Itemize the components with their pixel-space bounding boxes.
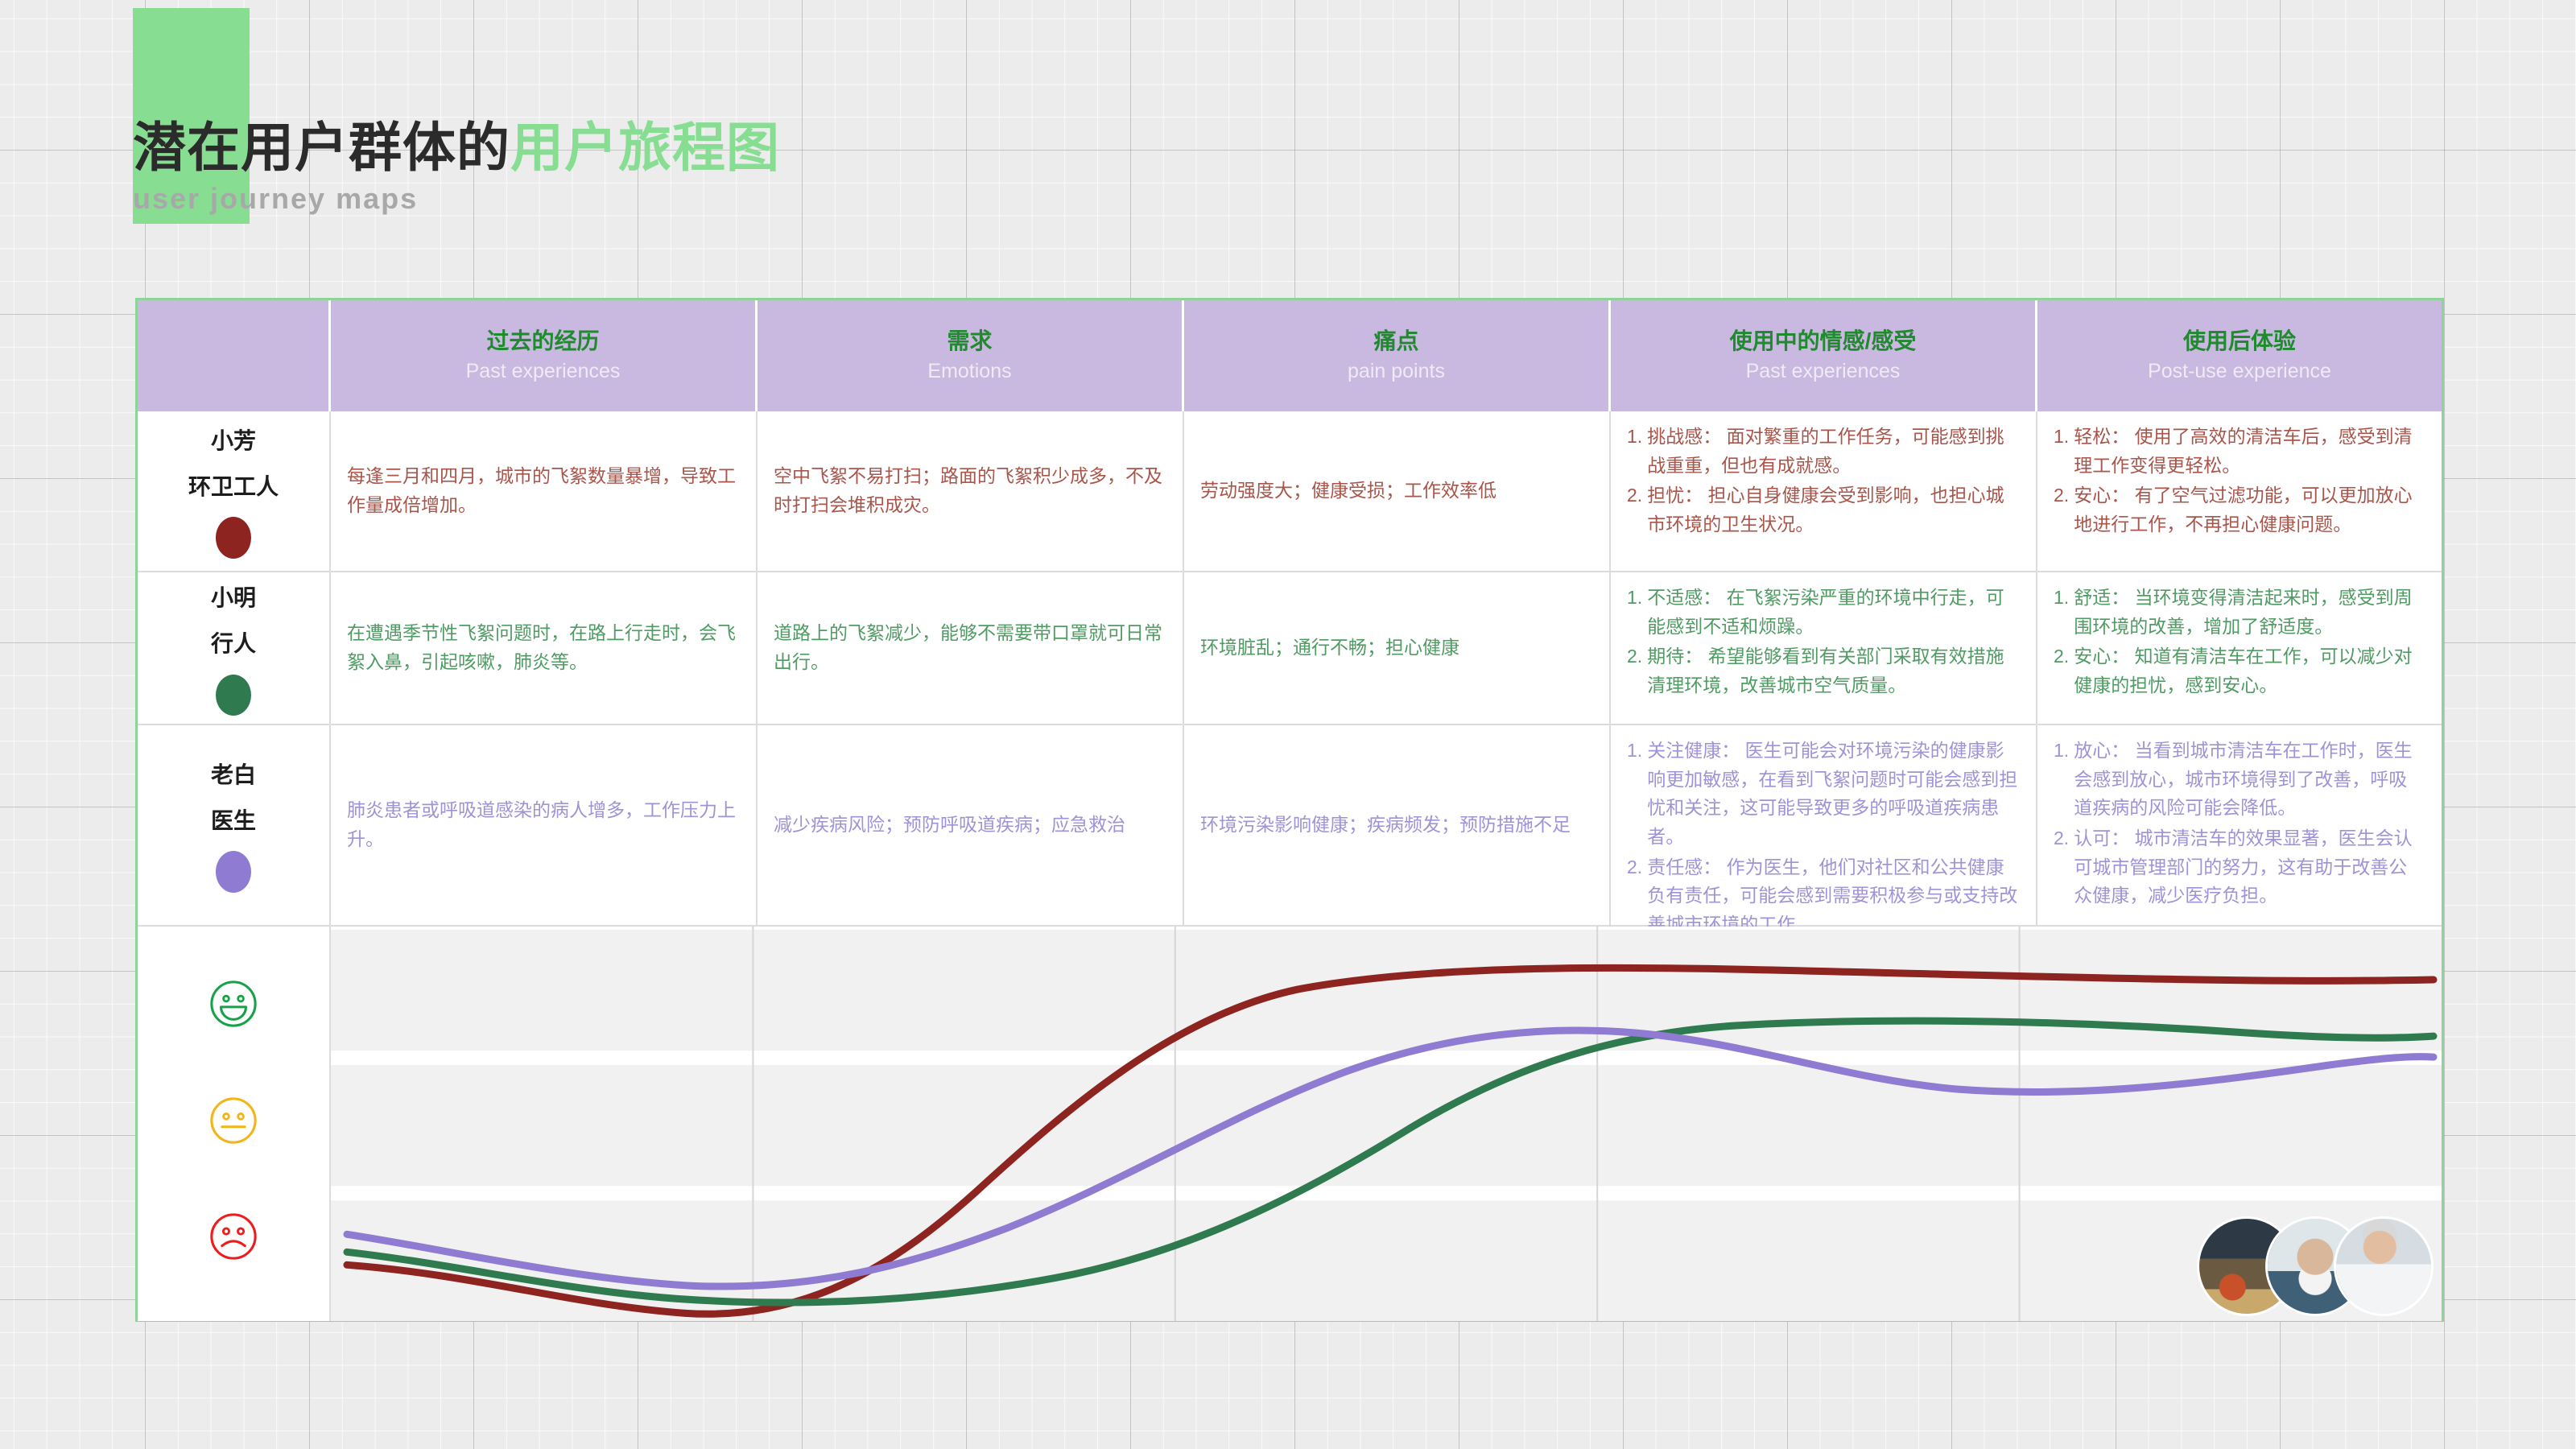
list-item-text: 担忧： 担心自身健康会受到影响，也担心城市环境的卫生状况。 [1647, 481, 2020, 539]
list-item: 1.挑战感： 面对繁重的工作任务，可能感到挑战重重，但也有成就感。 [1627, 423, 2020, 480]
list-item-number: 1. [1627, 737, 1642, 852]
ordered-list: 1.舒适： 当环境变得清洁起来时，感受到周围环境的改善，增加了舒适度。 2.安心… [2054, 584, 2425, 702]
cell-during: 1.不适感： 在飞絮污染严重的环境中行走，可能感到不适和烦躁。 2.期待： 希望… [1611, 572, 2037, 724]
list-item: 2.安心： 知道有清洁车在工作，可以减少对健康的担忧，感到安心。 [2054, 642, 2425, 700]
header-zh-label: 需求 [947, 329, 992, 354]
header-en-label: Past experiences [1746, 361, 1901, 383]
persona-cell: 老白 医生 [138, 725, 331, 925]
cell-during: 1.关注健康： 医生可能会对环境污染的健康影响更加敏感，在看到飞絮问题时可能会感… [1611, 725, 2037, 925]
header-zh-label: 使用后体验 [2183, 329, 2296, 354]
cell-needs: 减少疾病风险；预防呼吸道疾病；应急救治 [758, 725, 1184, 925]
table-row: 小明 行人 在遭遇季节性飞絮问题时，在路上行走时，会飞絮入鼻，引起咳嗽，肺炎等。… [138, 572, 2442, 725]
list-item-text: 安心： 有了空气过滤功能，可以更加放心地进行工作，不再担心健康问题。 [2074, 481, 2425, 539]
list-item-text: 不适感： 在飞絮污染严重的环境中行走，可能感到不适和烦躁。 [1647, 584, 2020, 641]
title-block: 潜在用户群体的用户旅程图 user journey maps [133, 8, 780, 95]
sad-face-icon [208, 1212, 258, 1265]
neutral-face-icon [208, 1096, 258, 1150]
persona-color-dot [216, 851, 251, 893]
header-zh-label: 使用中的情感/感受 [1730, 329, 1917, 354]
persona-name: 小芳 [211, 423, 256, 458]
list-item-number: 2. [2054, 642, 2069, 700]
list-item-number: 1. [1627, 423, 1642, 480]
persona-role: 行人 [211, 626, 256, 661]
happy-face-icon [208, 979, 258, 1033]
ordered-list: 1.放心： 当看到城市清洁车在工作时，医生会感到放心，城市环境得到了改善，呼吸道… [2054, 737, 2425, 912]
journey-map-board: 过去的经历 Past experiences 需求 Emotions 痛点 pa… [135, 298, 2444, 1322]
list-item: 2.担忧： 担心自身健康会受到影响，也担心城市环境的卫生状况。 [1627, 481, 2020, 539]
band-happy [331, 930, 2442, 1051]
persona-name: 老白 [211, 758, 256, 792]
list-item: 2.安心： 有了空气过滤功能，可以更加放心地进行工作，不再担心健康问题。 [2054, 481, 2425, 539]
cell-after: 1.舒适： 当环境变得清洁起来时，感受到周围环境的改善，增加了舒适度。 2.安心… [2037, 572, 2442, 724]
emotion-curve-chart [138, 927, 2442, 1321]
cell-past: 在遭遇季节性飞絮问题时，在路上行走时，会飞絮入鼻，引起咳嗽，肺炎等。 [331, 572, 758, 724]
list-item-number: 1. [1627, 584, 1642, 641]
emotion-plot-svg [331, 927, 2442, 1321]
header-zh-label: 过去的经历 [486, 329, 599, 354]
persona-cell: 小明 行人 [138, 572, 331, 724]
cell-past: 每逢三月和四月，城市的飞絮数量暴增，导致工作量成倍增加。 [331, 411, 758, 571]
list-item: 1.关注健康： 医生可能会对环境污染的健康影响更加敏感，在看到飞絮问题时可能会感… [1627, 737, 2020, 852]
header-en-label: Post-use experience [2148, 361, 2331, 383]
list-item-number: 1. [2054, 423, 2069, 480]
header-cell-past-experiences: 过去的经历 Past experiences [331, 300, 758, 411]
page-title: 潜在用户群体的用户旅程图 [133, 121, 780, 174]
list-item-number: 2. [1627, 481, 1642, 539]
list-item-number: 1. [2054, 584, 2069, 641]
persona-color-dot [216, 517, 251, 559]
list-item-text: 关注健康： 医生可能会对环境污染的健康影响更加敏感，在看到飞絮问题时可能会感到担… [1647, 737, 2020, 852]
cell-needs: 道路上的飞絮减少，能够不需要带口罩就可日常出行。 [758, 572, 1184, 724]
ordered-list: 1.轻松： 使用了高效的清洁车后，感受到清理工作变得更轻松。 2.安心： 有了空… [2054, 423, 2425, 541]
list-item: 2.期待： 希望能够看到有关部门采取有效措施清理环境，改善城市空气质量。 [1627, 642, 2020, 700]
emotion-scale-column [138, 927, 331, 1321]
table-header-row: 过去的经历 Past experiences 需求 Emotions 痛点 pa… [138, 300, 2442, 411]
persona-role: 医生 [211, 803, 256, 838]
cell-pain: 环境脏乱；通行不畅；担心健康 [1184, 572, 1611, 724]
list-item-number: 2. [2054, 481, 2069, 539]
ordered-list: 1.不适感： 在飞絮污染严重的环境中行走，可能感到不适和烦躁。 2.期待： 希望… [1627, 584, 2020, 702]
cell-during: 1.挑战感： 面对繁重的工作任务，可能感到挑战重重，但也有成就感。 2.担忧： … [1611, 411, 2037, 571]
list-item-number: 1. [2054, 737, 2069, 823]
persona-photo-cluster [2197, 1216, 2430, 1313]
title-accent-text: 用户旅程图 [510, 118, 780, 177]
list-item-number: 2. [1627, 642, 1642, 700]
list-item-text: 挑战感： 面对繁重的工作任务，可能感到挑战重重，但也有成就感。 [1647, 423, 2020, 480]
photo-image [2336, 1219, 2431, 1314]
list-item-text: 期待： 希望能够看到有关部门采取有效措施清理环境，改善城市空气质量。 [1647, 642, 2020, 700]
header-cell-pain-points: 痛点 pain points [1184, 300, 1611, 411]
persona-color-dot [216, 675, 251, 716]
header-cell-needs: 需求 Emotions [758, 300, 1184, 411]
cell-pain: 环境污染影响健康；疾病频发；预防措施不足 [1184, 725, 1611, 925]
header-en-label: Emotions [927, 361, 1011, 383]
emotion-plot-area [331, 927, 2442, 1321]
doctor-photo [2334, 1216, 2434, 1316]
title-highlight-text: 潜在 [133, 118, 241, 177]
list-item: 1.舒适： 当环境变得清洁起来时，感受到周围环境的改善，增加了舒适度。 [2054, 584, 2425, 641]
table-row: 小芳 环卫工人 每逢三月和四月，城市的飞絮数量暴增，导致工作量成倍增加。 空中飞… [138, 411, 2442, 572]
page-subtitle: user journey maps [133, 182, 780, 216]
header-cell-persona [138, 300, 331, 411]
list-item-number: 2. [2054, 824, 2069, 910]
ordered-list: 1.挑战感： 面对繁重的工作任务，可能感到挑战重重，但也有成就感。 2.担忧： … [1627, 423, 2020, 541]
list-item: 1.轻松： 使用了高效的清洁车后，感受到清理工作变得更轻松。 [2054, 423, 2425, 480]
header-cell-during-use: 使用中的情感/感受 Past experiences [1611, 300, 2037, 411]
persona-role: 环卫工人 [188, 469, 279, 504]
title-plain-text: 用户群体的 [241, 118, 510, 177]
header-en-label: Past experiences [466, 361, 621, 383]
persona-cell: 小芳 环卫工人 [138, 411, 331, 571]
ordered-list: 1.关注健康： 医生可能会对环境污染的健康影响更加敏感，在看到飞絮问题时可能会感… [1627, 737, 2020, 940]
header-en-label: pain points [1348, 361, 1445, 383]
list-item-text: 轻松： 使用了高效的清洁车后，感受到清理工作变得更轻松。 [2074, 423, 2425, 480]
cell-pain: 劳动强度大；健康受损；工作效率低 [1184, 411, 1611, 571]
list-item-text: 舒适： 当环境变得清洁起来时，感受到周围环境的改善，增加了舒适度。 [2074, 584, 2425, 641]
cell-after: 1.轻松： 使用了高效的清洁车后，感受到清理工作变得更轻松。 2.安心： 有了空… [2037, 411, 2442, 571]
band-neutral [331, 1065, 2442, 1186]
list-item: 2.认可： 城市清洁车的效果显著，医生会认可城市管理部门的努力，这有助于改善公众… [2054, 824, 2425, 910]
list-item-text: 安心： 知道有清洁车在工作，可以减少对健康的担忧，感到安心。 [2074, 642, 2425, 700]
cell-after: 1.放心： 当看到城市清洁车在工作时，医生会感到放心，城市环境得到了改善，呼吸道… [2037, 725, 2442, 925]
list-item-text: 放心： 当看到城市清洁车在工作时，医生会感到放心，城市环境得到了改善，呼吸道疾病… [2074, 737, 2425, 823]
header-cell-post-use: 使用后体验 Post-use experience [2037, 300, 2442, 411]
list-item-text: 认可： 城市清洁车的效果显著，医生会认可城市管理部门的努力，这有助于改善公众健康… [2074, 824, 2425, 910]
persona-name: 小明 [211, 580, 256, 615]
list-item: 1.放心： 当看到城市清洁车在工作时，医生会感到放心，城市环境得到了改善，呼吸道… [2054, 737, 2425, 823]
header-zh-label: 痛点 [1373, 329, 1418, 354]
list-item: 1.不适感： 在飞絮污染严重的环境中行走，可能感到不适和烦躁。 [1627, 584, 2020, 641]
cell-past: 肺炎患者或呼吸道感染的病人增多，工作压力上升。 [331, 725, 758, 925]
cell-needs: 空中飞絮不易打扫；路面的飞絮积少成多，不及时打扫会堆积成灾。 [758, 411, 1184, 571]
table-row: 老白 医生 肺炎患者或呼吸道感染的病人增多，工作压力上升。 减少疾病风险；预防呼… [138, 725, 2442, 927]
band-sad [331, 1200, 2442, 1321]
